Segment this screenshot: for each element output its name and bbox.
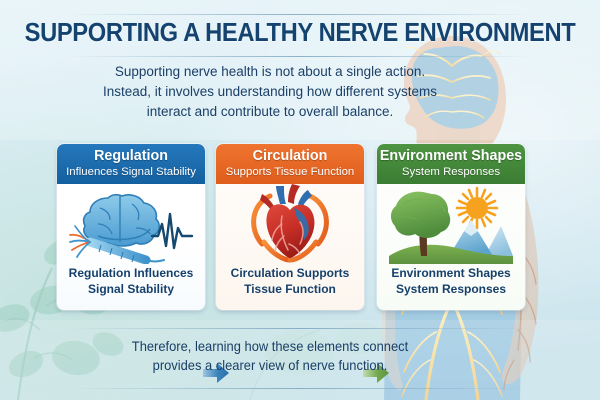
panel-circulation-caption-line-1: Circulation Supports — [216, 266, 364, 282]
panel-circulation-illustration — [216, 184, 364, 264]
divider-above-closing — [68, 328, 532, 329]
panel-circulation-subtitle: Supports Tissue Function — [216, 165, 364, 179]
panel-regulation-caption: Regulation Influences Signal Stability — [57, 264, 205, 297]
tree-sun-mountains-icon — [389, 184, 513, 264]
panel-environment-caption: Environment Shapes System Responses — [377, 264, 525, 297]
concept-panels: Regulation Influences Signal Stability — [0, 144, 600, 310]
panel-environment-caption-line-1: Environment Shapes — [377, 266, 525, 282]
heart-circulation-icon — [242, 184, 338, 264]
closing-paragraph: Therefore, learning how these elements c… — [71, 337, 470, 375]
panel-regulation[interactable]: Regulation Influences Signal Stability — [57, 144, 205, 310]
panel-circulation-title: Circulation — [216, 148, 364, 165]
brain-shape — [84, 195, 160, 246]
panel-regulation-title: Regulation — [57, 148, 205, 165]
brain-nerve-waveform-icon — [68, 184, 194, 264]
divider-top — [68, 14, 532, 15]
sun-shape — [457, 188, 497, 228]
panel-environment-subtitle: System Responses — [377, 165, 525, 179]
panel-circulation-header: Circulation Supports Tissue Function — [216, 144, 364, 184]
intro-line-1: Supporting nerve health is not about a s… — [71, 62, 470, 82]
page-title: SUPPORTING A HEALTHY NERVE ENVIRONMENT — [21, 19, 579, 48]
panel-environment[interactable]: Environment Shapes System Responses — [377, 144, 525, 310]
closing-line-2: provides a clearer view of nerve functio… — [71, 356, 470, 375]
divider-bottom — [68, 388, 532, 389]
panel-regulation-header: Regulation Influences Signal Stability — [57, 144, 205, 184]
panel-circulation-caption-line-2: Tissue Function — [216, 282, 364, 298]
panel-regulation-caption-line-2: Signal Stability — [57, 282, 205, 298]
intro-line-2: Instead, it involves understanding how d… — [71, 82, 470, 102]
panel-regulation-subtitle: Influences Signal Stability — [57, 165, 205, 179]
panel-environment-header: Environment Shapes System Responses — [377, 144, 525, 184]
intro-line-3: interact and contribute to overall balan… — [71, 102, 470, 122]
panel-environment-illustration — [377, 184, 525, 264]
panel-regulation-illustration — [57, 184, 205, 264]
panel-regulation-caption-line-1: Regulation Influences — [57, 266, 205, 282]
divider-below-title — [68, 56, 532, 57]
panel-circulation[interactable]: Circulation Supports Tissue Function — [216, 144, 364, 310]
panel-circulation-caption: Circulation Supports Tissue Function — [216, 264, 364, 297]
panel-environment-title: Environment Shapes — [377, 148, 525, 165]
panel-environment-caption-line-2: System Responses — [377, 282, 525, 298]
closing-line-1: Therefore, learning how these elements c… — [71, 337, 470, 356]
intro-paragraph: Supporting nerve health is not about a s… — [71, 62, 470, 122]
